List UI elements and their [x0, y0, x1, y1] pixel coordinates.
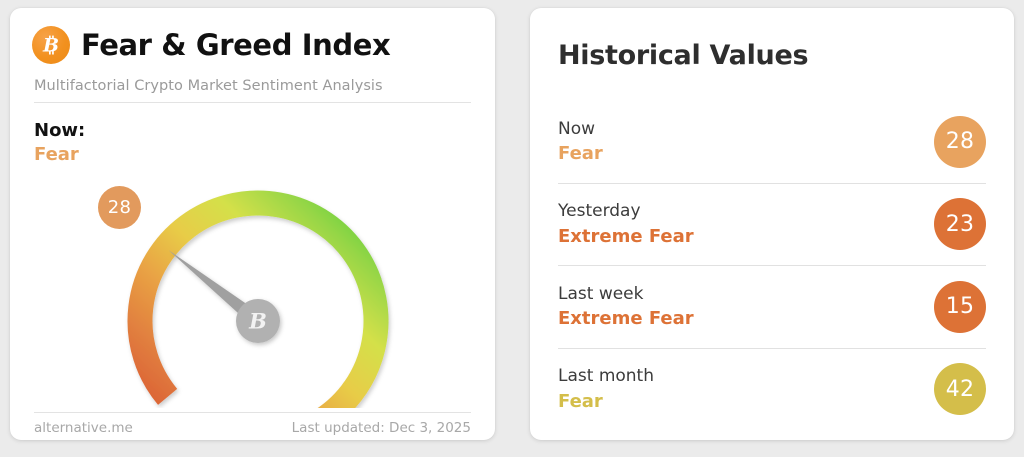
- history-row-classification: Fear: [558, 143, 603, 165]
- header-divider: [34, 102, 471, 103]
- svg-text:B: B: [248, 309, 267, 334]
- now-label: Now:: [34, 120, 85, 143]
- fear-greed-gauge-card: B Fear & Greed Index Multifactorial Cryp…: [10, 8, 495, 440]
- gauge-card-footer: alternative.me Last updated: Dec 3, 2025: [34, 420, 471, 436]
- history-row-badge: 23: [934, 198, 986, 250]
- history-row-badge: 15: [934, 281, 986, 333]
- history-row-text: YesterdayExtreme Fear: [558, 201, 694, 247]
- last-updated-text: Last updated: Dec 3, 2025: [292, 420, 471, 436]
- history-row-badge: 28: [934, 116, 986, 168]
- history-row-text: Last weekExtreme Fear: [558, 284, 694, 330]
- bitcoin-icon: B: [32, 26, 70, 64]
- history-row-badge: 42: [934, 363, 986, 415]
- gauge-card-header: B Fear & Greed Index: [32, 26, 473, 64]
- history-row: Last monthFear42: [558, 349, 986, 431]
- history-row-classification: Extreme Fear: [558, 226, 694, 248]
- history-row-period: Last week: [558, 284, 694, 304]
- page-subtitle: Multifactorial Crypto Market Sentiment A…: [34, 78, 383, 94]
- history-row-period: Now: [558, 119, 603, 139]
- page-root: B Fear & Greed Index Multifactorial Cryp…: [0, 0, 1024, 457]
- history-row: Last weekExtreme Fear15: [558, 266, 986, 349]
- history-row: YesterdayExtreme Fear23: [558, 184, 986, 267]
- history-row-text: Last monthFear: [558, 366, 654, 412]
- history-row-period: Last month: [558, 366, 654, 386]
- history-row-text: NowFear: [558, 119, 603, 165]
- gauge-visualization: B: [10, 158, 495, 408]
- footer-divider: [34, 412, 471, 413]
- history-row-classification: Fear: [558, 391, 654, 413]
- historical-values-card: Historical Values NowFear28YesterdayExtr…: [530, 8, 1014, 440]
- historical-values-title: Historical Values: [558, 40, 808, 71]
- page-title: Fear & Greed Index: [81, 31, 390, 60]
- source-link[interactable]: alternative.me: [34, 420, 133, 436]
- historical-values-list: NowFear28YesterdayExtreme Fear23Last wee…: [558, 101, 986, 430]
- history-row: NowFear28: [558, 101, 986, 184]
- history-row-classification: Extreme Fear: [558, 308, 694, 330]
- history-row-period: Yesterday: [558, 201, 694, 221]
- gauge-value-badge: 28: [98, 186, 141, 229]
